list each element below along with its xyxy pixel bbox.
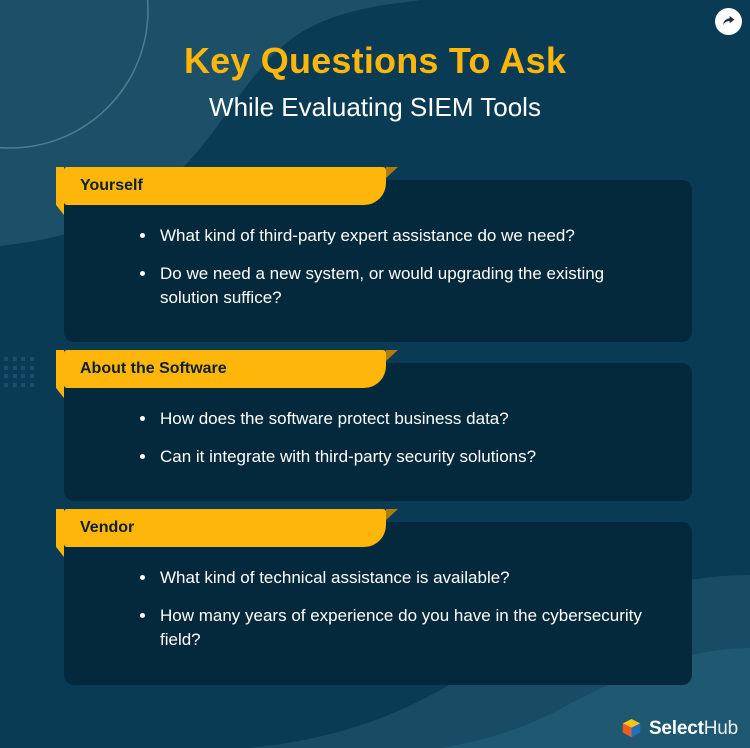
list-item: What kind of technical assistance is ava… xyxy=(138,566,662,589)
selecthub-logo-text: SelectHub xyxy=(649,719,738,738)
selecthub-cube-icon xyxy=(621,718,642,738)
header-block: Key Questions To Ask While Evaluating SI… xyxy=(0,40,750,124)
card-tab-yourself[interactable]: Yourself xyxy=(56,167,386,205)
bullet-list: How does the software protect business d… xyxy=(138,407,662,469)
bullet-list: What kind of technical assistance is ava… xyxy=(138,566,662,651)
card-tab-about-the-software[interactable]: About the Software xyxy=(56,350,386,388)
share-button[interactable] xyxy=(715,8,742,35)
card-vendor: Vendor What kind of technical assistance… xyxy=(64,522,692,685)
list-item: Do we need a new system, or would upgrad… xyxy=(138,262,662,309)
bullet-list: What kind of third-party expert assistan… xyxy=(138,224,662,309)
tab-fold-left xyxy=(56,350,64,398)
logo-text-bold: Select xyxy=(649,718,704,739)
dot-grid-decoration xyxy=(4,357,38,391)
card-about-the-software: About the Software How does the software… xyxy=(64,363,692,501)
infographic-poster: Key Questions To Ask While Evaluating SI… xyxy=(0,0,750,748)
card-tab-label: Vendor xyxy=(80,509,134,547)
tab-fold-left xyxy=(56,509,64,557)
list-item: Can it integrate with third-party securi… xyxy=(138,445,662,468)
list-item: What kind of third-party expert assistan… xyxy=(138,224,662,247)
card-tab-label: About the Software xyxy=(80,350,227,388)
list-item: How many years of experience do you have… xyxy=(138,604,662,651)
card-yourself: Yourself What kind of third-party expert… xyxy=(64,180,692,342)
card-tab-label: Yourself xyxy=(80,167,143,205)
selecthub-logo[interactable]: SelectHub xyxy=(621,718,738,738)
page-subtitle: While Evaluating SIEM Tools xyxy=(0,91,750,124)
tab-fold-right xyxy=(386,509,398,520)
logo-text-light: Hub xyxy=(704,718,738,739)
tab-fold-right xyxy=(386,350,398,361)
tab-fold-left xyxy=(56,167,64,215)
share-arrow-icon xyxy=(721,14,736,29)
card-tab-vendor[interactable]: Vendor xyxy=(56,509,386,547)
tab-fold-right xyxy=(386,167,398,178)
page-title: Key Questions To Ask xyxy=(0,40,750,82)
list-item: How does the software protect business d… xyxy=(138,407,662,430)
